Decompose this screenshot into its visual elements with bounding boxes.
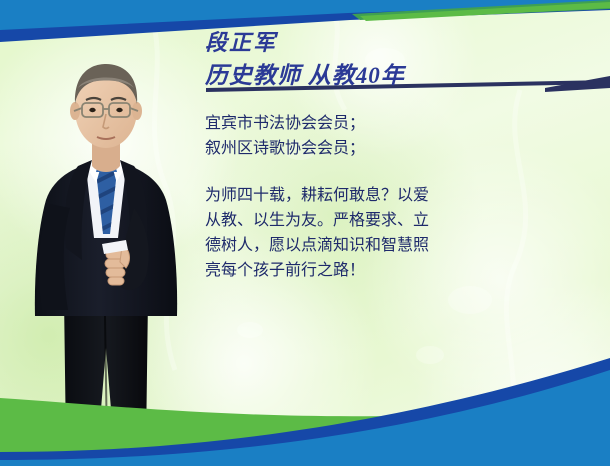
statement-line: 德树人，愿以点滴知识和智慧照 <box>205 232 525 257</box>
credential-line: 叙州区诗歌协会会员； <box>205 135 525 160</box>
text-spacer <box>205 160 525 182</box>
teacher-role: 历史教师 从教40年 <box>205 60 535 91</box>
teacher-profile-card: 段正军 历史教师 从教40年 宜宾市书法协会会员； 叙州区诗歌协会会员； 为师四… <box>0 0 610 466</box>
statement-paragraph: 为师四十载，耕耘何敢息？以爱 从教、以生为友。严格要求、立 德树人，愿以点滴知识… <box>205 182 525 282</box>
body-text-block: 宜宾市书法协会会员； 叙州区诗歌协会会员； 为师四十载，耕耘何敢息？以爱 从教、… <box>205 110 525 282</box>
statement-line: 从教、以生为友。严格要求、立 <box>205 207 525 232</box>
credential-line: 宜宾市书法协会会员； <box>205 110 525 135</box>
header-text-block: 段正军 历史教师 从教40年 <box>205 28 535 91</box>
statement-line: 亮每个孩子前行之路！ <box>205 257 525 282</box>
statement-line: 为师四十载，耕耘何敢息？以爱 <box>205 182 525 207</box>
teacher-name: 段正军 <box>205 28 535 58</box>
